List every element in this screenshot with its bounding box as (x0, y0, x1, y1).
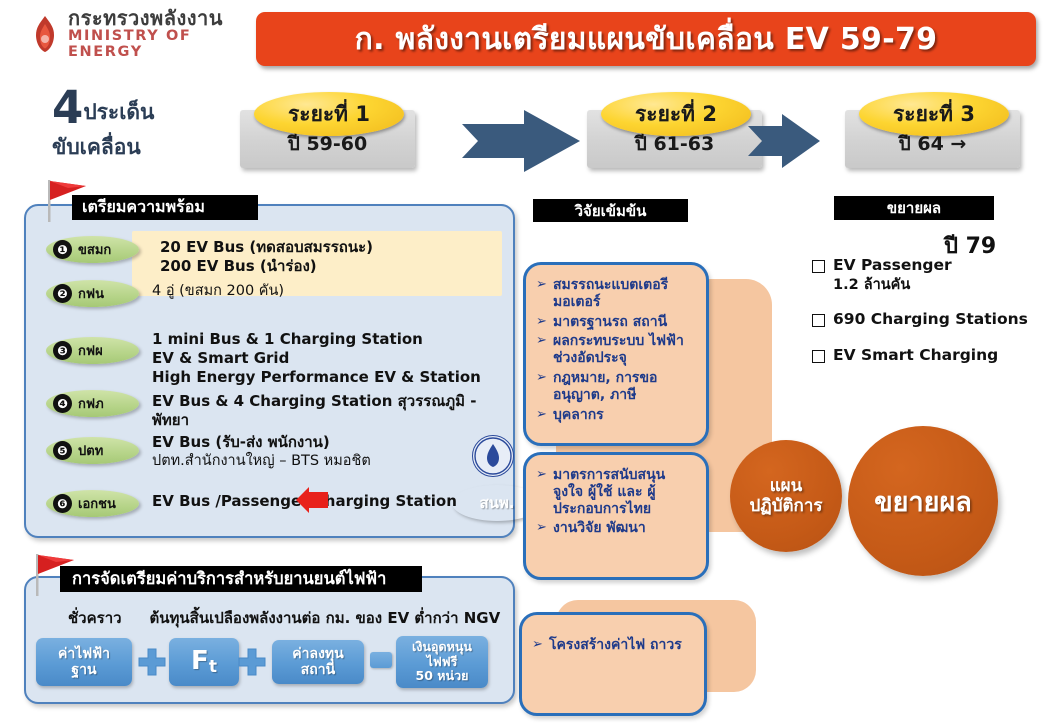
agency-label-3: กฟผ (78, 340, 103, 361)
tariff-statement-row: ชั่วคราวต้นทุนสิ้นเปลืองพลังงานต่อ กม. ข… (68, 606, 508, 630)
chip-inv-line2: สถานี (301, 662, 335, 678)
phase-1-label: ระยะที่ 1 (288, 98, 370, 131)
arrow-phase2-to-phase3-icon (748, 112, 820, 170)
four-issues-heading: 4ประเด็น ขับเคลื่อน (52, 88, 242, 164)
research-list-3: ➢โครงสร้างค่าไฟ ถาวร (522, 615, 704, 654)
agency-pill-2: ❷ กฟน (46, 280, 139, 307)
arrow-phase1-to-phase2-icon (462, 108, 580, 174)
expand-result-label: ขยายผล (874, 480, 972, 523)
expand-item-3-main: EV Smart Charging (833, 346, 998, 365)
list-item: ➢โครงสร้างค่าไฟ ถาวร (532, 637, 696, 654)
plus-icon-1 (138, 648, 166, 676)
chip-station-investment: ค่าลงทุนสถานี (272, 640, 364, 684)
research-list-1: ➢สมรรถนะแบตเตอรี มอเตอร์ ➢มาตรฐานรถ สถาน… (526, 265, 706, 423)
expand-item-1: EV Passenger1.2 ล้านคัน (812, 256, 1032, 295)
research-header: วิจัยเข้มข้น (533, 199, 688, 222)
agency-label-6: เอกชน (78, 493, 116, 514)
arrow-bullet-icon: ➢ (536, 467, 548, 517)
tariff-header: การจัดเตรียมค่าบริการสำหรับยานยนต์ไฟฟ้า (60, 566, 422, 592)
issues-count: 4 (52, 81, 83, 134)
snp-badge-label: สนพ. (480, 491, 515, 515)
plus-icon-2 (238, 648, 266, 676)
chip-ft: Ft (169, 638, 239, 686)
research-box-3: ➢โครงสร้างค่าไฟ ถาวร (519, 612, 707, 716)
arrow-bullet-icon: ➢ (536, 277, 548, 311)
list-item: ➢บุคลากร (536, 407, 698, 424)
agency-label-2: กฟน (78, 283, 104, 304)
agency-pill-5: ❺ ปตท (46, 437, 139, 464)
research-list-2: ➢มาตรการสนับสนุน จูงใจ ผู้ใช้ และ ผู้ประ… (526, 455, 706, 537)
issues-label-line1: ประเด็น (83, 100, 154, 124)
agency-label-5: ปตท (78, 440, 103, 461)
agency-detail-5-line2: ปตท.สำนักงานใหญ่ – BTS หมอชิต (152, 452, 462, 471)
phase-2: ปี 61-63 ระยะที่ 2 (587, 92, 762, 168)
arrow-bullet-icon: ➢ (536, 333, 548, 367)
agency-detail-1-line2: 200 EV Bus (นำร่อง) (160, 257, 505, 276)
tariff-temporary-label: ชั่วคราว (68, 609, 122, 627)
expand-item-2-main: 690 Charging Stations (833, 310, 1028, 329)
agency-number-6: ❻ (53, 494, 72, 513)
page-title: ก. พลังงานเตรียมแผนขับเคลื่อน EV 59-79 (355, 16, 938, 63)
page-title-bar: ก. พลังงานเตรียมแผนขับเคลื่อน EV 59-79 (256, 12, 1036, 66)
checkbox-icon (812, 314, 825, 327)
agency-detail-3-line3: High Energy Performance EV & Station (152, 368, 502, 387)
chip-sub-line1: เงินอุดหนุน (412, 639, 472, 654)
list-item: ➢ผลกระทบระบบ ไฟฟ้าช่วงอัดประจุ (536, 333, 698, 367)
agency-number-4: ❹ (53, 394, 72, 413)
agency-number-1: ❶ (53, 240, 72, 259)
agency-detail-4-line1: EV Bus & 4 Charging Station สุวรรณภูมิ -… (152, 392, 502, 430)
red-left-arrow-icon (296, 487, 328, 513)
action-plan-line1: แผน (770, 476, 803, 496)
arrow-bullet-icon: ➢ (536, 520, 548, 537)
ministry-name-english: MINISTRY OF ENERGY (68, 29, 258, 59)
expand-item-1-main: EV Passenger (833, 256, 952, 274)
expand-item-1-sub: 1.2 ล้านคัน (833, 276, 952, 294)
agency-detail-2: 4 อู่ (ขสมก 200 คัน) (152, 282, 497, 301)
phase-1: ปี 59-60 ระยะที่ 1 (240, 92, 415, 168)
flame-icon (28, 14, 62, 54)
agency-pill-1: ❶ ขสมก (46, 236, 139, 263)
arrow-bullet-icon: ➢ (532, 637, 544, 654)
chip-inv-line1: ค่าลงทุน (292, 646, 343, 662)
agency-pill-3: ❸ กฟผ (46, 337, 139, 364)
agency-label-4: กฟภ (78, 393, 104, 414)
checkbox-icon (812, 350, 825, 363)
list-item: ➢กฎหมาย, การขอ อนุญาต, ภาษี (536, 370, 698, 404)
agency-detail-3-line1: 1 mini Bus & 1 Charging Station (152, 330, 502, 349)
agency-detail-1: 20 EV Bus (ทดสอบสมรรถนะ) 200 EV Bus (นำร… (160, 238, 505, 276)
ptt-logo-icon (472, 435, 514, 477)
ministry-logo: กระทรวงพลังงาน MINISTRY OF ENERGY (28, 8, 258, 60)
ministry-name-thai: กระทรวงพลังงาน (68, 8, 258, 29)
agency-detail-4: EV Bus & 4 Charging Station สุวรรณภูมิ -… (152, 392, 502, 430)
phase-2-label: ระยะที่ 2 (635, 98, 717, 131)
chip-base-line1: ค่าไฟฟ้า (58, 646, 110, 662)
tariff-statement: ต้นทุนสิ้นเปลืองพลังงานต่อ กม. ของ EV ต่… (150, 609, 501, 627)
list-item: ➢งานวิจัย พัฒนา (536, 520, 698, 537)
agency-detail-5: EV Bus (รับ-ส่ง พนักงาน) ปตท.สำนักงานใหญ… (152, 433, 462, 471)
phase-3: ปี 64 → ระยะที่ 3 (845, 92, 1020, 168)
prepare-header: เตรียมความพร้อม (72, 195, 258, 220)
agency-pill-6: ❻ เอกชน (46, 490, 139, 517)
chip-base-tariff: ค่าไฟฟ้าฐาน (36, 638, 132, 686)
action-plan-circle: แผนปฏิบัติการ (730, 440, 842, 552)
agency-number-5: ❺ (53, 441, 72, 460)
agency-detail-5-line1: EV Bus (รับ-ส่ง พนักงาน) (152, 433, 462, 452)
agency-detail-1-line1: 20 EV Bus (ทดสอบสมรรถนะ) (160, 238, 505, 257)
phase-1-badge: ระยะที่ 1 (254, 92, 404, 136)
chip-base-line2: ฐาน (71, 662, 96, 678)
agency-number-3: ❸ (53, 341, 72, 360)
expand-header: ขยายผล (834, 196, 994, 220)
agency-detail-3-line2: EV & Smart Grid (152, 349, 502, 368)
list-item: ➢สมรรถนะแบตเตอรี มอเตอร์ (536, 277, 698, 311)
arrow-bullet-icon: ➢ (536, 407, 548, 424)
expand-item-3: EV Smart Charging (812, 346, 1042, 365)
minus-icon (370, 652, 392, 668)
list-item: ➢มาตรการสนับสนุน จูงใจ ผู้ใช้ และ ผู้ประ… (536, 467, 698, 517)
agency-detail-3: 1 mini Bus & 1 Charging Station EV & Sma… (152, 330, 502, 388)
chip-subsidy: เงินอุดหนุนไฟฟรี50 หน่วย (396, 636, 488, 688)
list-item: ➢มาตรฐานรถ สถานี (536, 314, 698, 331)
arrow-bullet-icon: ➢ (536, 370, 548, 404)
research-box-1: ➢สมรรถนะแบตเตอรี มอเตอร์ ➢มาตรฐานรถ สถาน… (523, 262, 709, 446)
agency-number-2: ❷ (53, 284, 72, 303)
agency-label-1: ขสมก (78, 239, 111, 260)
issues-label-line2: ขับเคลื่อน (52, 131, 242, 164)
agency-pill-4: ❹ กฟภ (46, 390, 139, 417)
chip-ft-line2: t (209, 657, 217, 677)
chip-ft-line1: F (191, 646, 209, 676)
agency-detail-2-line1: 4 อู่ (ขสมก 200 คัน) (152, 282, 497, 301)
expand-item-2: 690 Charging Stations (812, 310, 1042, 329)
checkbox-icon (812, 260, 825, 273)
phase-3-badge: ระยะที่ 3 (859, 92, 1009, 136)
expand-result-circle: ขยายผล (848, 426, 998, 576)
arrow-bullet-icon: ➢ (536, 314, 548, 331)
chip-sub-line3: 50 หน่วย (416, 668, 469, 683)
research-box-2: ➢มาตรการสนับสนุน จูงใจ ผู้ใช้ และ ผู้ประ… (523, 452, 709, 580)
phase-2-badge: ระยะที่ 2 (601, 92, 751, 136)
action-plan-line2: ปฏิบัติการ (749, 496, 822, 516)
phase-3-label: ระยะที่ 3 (893, 98, 975, 131)
chip-sub-line2: ไฟฟรี (427, 654, 458, 669)
